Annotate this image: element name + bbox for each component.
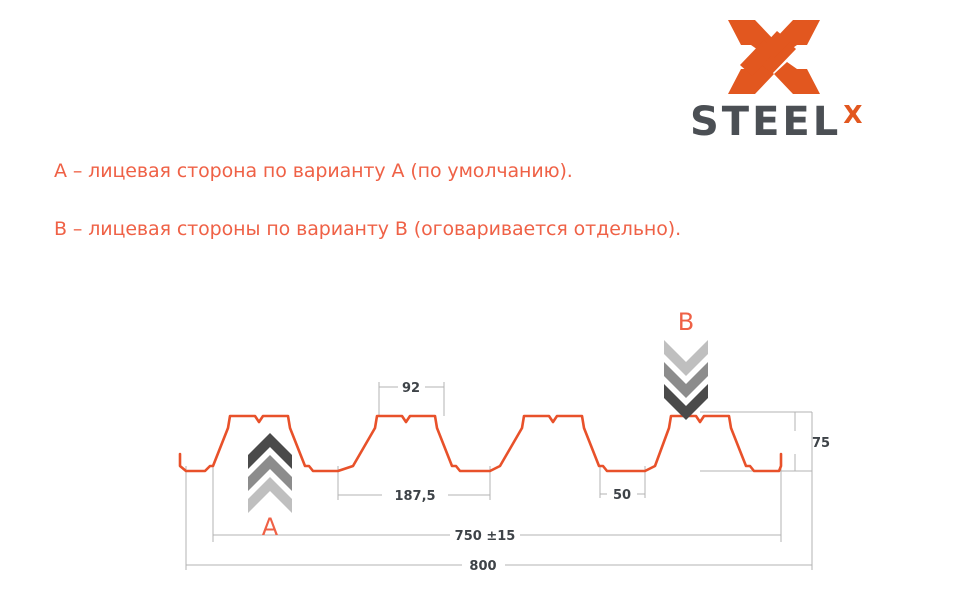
marker-a-chevrons-icon xyxy=(248,433,292,513)
brand-wordmark: STEELX xyxy=(690,102,920,144)
steelx-x-mark-icon xyxy=(728,18,820,96)
profile-drawing-page: STEELX А – лицевая сторона по варианту А… xyxy=(0,0,970,597)
marker-a-label: А xyxy=(262,513,279,541)
dimension-label-50: 50 xyxy=(613,488,631,503)
marker-b-label: В xyxy=(678,308,694,336)
brand-logo: STEELX xyxy=(690,18,920,143)
marker-a: А xyxy=(248,433,292,541)
dimension-label-187-5: 187,5 xyxy=(394,489,435,504)
dimension-label-75: 75 xyxy=(812,436,830,451)
dimension-label-800: 800 xyxy=(469,559,496,574)
wordmark-steel: STEEL xyxy=(690,102,841,142)
marker-b: В xyxy=(664,308,708,420)
note-variant-a: А – лицевая сторона по варианту А (по ум… xyxy=(54,160,573,182)
marker-b-chevrons-icon xyxy=(664,340,708,420)
dimension-label-750: 750 ±15 xyxy=(455,529,516,544)
wordmark-superscript-x: X xyxy=(843,102,862,127)
profile-cross-section-drawing: 92 187,5 50 75 750 ±15 800 А В xyxy=(0,270,970,597)
dimension-label-92: 92 xyxy=(402,381,420,396)
note-variant-b: В – лицевая стороны по варианту В (огова… xyxy=(54,218,681,240)
